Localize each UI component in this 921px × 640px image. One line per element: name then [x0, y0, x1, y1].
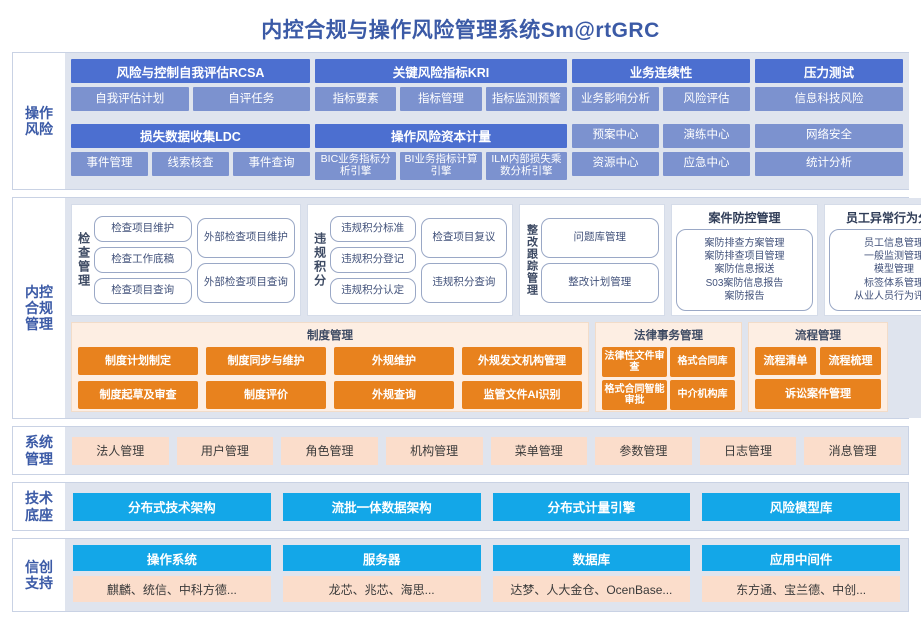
case-prevention-items[interactable]: 案防排查方案管理 案防排查项目管理 案防信息报送 S03案防信息报告 案防报告 [676, 229, 813, 311]
btn-kri-element[interactable]: 指标要素 [315, 87, 396, 111]
box-process-management: 流程管理 流程清单 流程梳理 诉讼案件管理 [748, 322, 888, 412]
btn-plan-center[interactable]: 预案中心 [572, 124, 659, 148]
inspect-col1: 检查项目维护 检查工作底稿 检查项目查询 [94, 210, 192, 310]
btn-inspect-item-query[interactable]: 检查项目查询 [94, 278, 192, 304]
btn-bic-engine[interactable]: BIC业务指标分析引擎 [315, 152, 396, 180]
band-label-tech-foundation: 技术底座 [13, 483, 65, 530]
btn-kri-monitor[interactable]: 指标监测预警 [486, 87, 567, 111]
card-label-violation: 违规积分 [313, 210, 326, 310]
btn-risk-model-library[interactable]: 风险模型库 [702, 493, 900, 521]
xc-head-middleware[interactable]: 应用中间件 [702, 545, 900, 571]
btn-process-list[interactable]: 流程清单 [755, 347, 816, 375]
btn-case-project-manage[interactable]: 案防排查项目管理 [705, 250, 785, 263]
btn-case-plan-manage[interactable]: 案防排查方案管理 [705, 237, 785, 250]
xc-head-server[interactable]: 服务器 [283, 545, 481, 571]
btn-resource-center[interactable]: 资源中心 [572, 152, 659, 176]
btn-message-manage[interactable]: 消息管理 [804, 437, 901, 465]
label-internal-control: 内控合规管理 [25, 284, 53, 332]
btn-regulatory-doc-ai[interactable]: 监管文件AI识别 [462, 381, 582, 409]
btn-policy-sync-maintain[interactable]: 制度同步与维护 [206, 347, 326, 375]
box-title-process-management: 流程管理 [755, 327, 881, 343]
internal-control-body: 检查管理 检查项目维护 检查工作底稿 检查项目查询 外部检查项目维护 外部检查项… [65, 198, 921, 418]
btn-bcm-risk-assess[interactable]: 风险评估 [663, 87, 750, 111]
btn-statistics-analysis[interactable]: 统计分析 [755, 152, 903, 176]
band-xinchuang-support: 信创支持 操作系统 麒麟、统信、中科方德... 服务器 龙芯、兆芯、海思... … [12, 538, 909, 612]
btn-rcsa-plan[interactable]: 自我评估计划 [71, 87, 189, 111]
band-label-operational-risk: 操作风险 [13, 53, 65, 189]
btn-ext-reg-maintain[interactable]: 外规维护 [334, 347, 454, 375]
btn-ext-inspect-query[interactable]: 外部检查项目查询 [197, 263, 295, 303]
band-label-internal-control: 内控合规管理 [13, 198, 65, 418]
box-title-system-management: 制度管理 [78, 327, 582, 343]
btn-inspect-workpaper[interactable]: 检查工作底稿 [94, 247, 192, 273]
operational-risk-row-bottom: 损失数据收集LDC 事件管理 线索核查 事件查询 操作风险资本计量 BIC业务指… [71, 124, 903, 184]
btn-ext-inspect-maintain[interactable]: 外部检查项目维护 [197, 218, 295, 258]
label-tech-foundation: 技术底座 [25, 490, 53, 522]
btn-org-manage[interactable]: 机构管理 [386, 437, 483, 465]
band-internal-control: 内控合规管理 检查管理 检查项目维护 检查工作底稿 检查项目查询 外部检查项目维… [12, 197, 909, 419]
group-stress-bottom: 网络安全 统计分析 [755, 124, 903, 184]
rcsa-subs: 自我评估计划 自评任务 [71, 87, 310, 111]
card-staff-behavior: 员工异常行为分析 员工信息管理 一般监测管理 模型管理 标签体系管理 从业人员行… [824, 204, 921, 316]
btn-drill-center[interactable]: 演练中心 [663, 124, 750, 148]
btn-stream-batch-data-arch[interactable]: 流批一体数据架构 [283, 493, 481, 521]
btn-violation-standard[interactable]: 违规积分标准 [330, 216, 416, 242]
btn-event-manage[interactable]: 事件管理 [71, 152, 148, 176]
btn-ilm-engine[interactable]: ILM内部损失乘数分析引擎 [486, 152, 567, 180]
btn-contract-smart-approval[interactable]: 格式合同智能审批 [602, 380, 667, 410]
xc-head-database[interactable]: 数据库 [493, 545, 691, 571]
internal-control-orange-row: 制度管理 制度计划制定 制度同步与维护 外规维护 外规发文机构管理 制度起草及审… [71, 322, 921, 412]
label-xinchuang: 信创支持 [25, 559, 53, 591]
system-management-body: 法人管理 用户管理 角色管理 机构管理 菜单管理 参数管理 日志管理 消息管理 [65, 427, 908, 474]
stress-subs-2: 网络安全 [755, 124, 903, 148]
btn-inspect-item-review[interactable]: 检查项目复议 [421, 218, 507, 258]
btn-clue-check[interactable]: 线索核查 [152, 152, 229, 176]
stress-subs-3: 统计分析 [755, 152, 903, 176]
btn-distributed-calc-engine[interactable]: 分布式计量引擎 [493, 493, 691, 521]
header-op-risk-capital[interactable]: 操作风险资本计量 [315, 124, 567, 148]
header-bcm[interactable]: 业务连续性 [572, 59, 750, 83]
label-line1: 操作风险 [25, 105, 53, 137]
btn-rectification-plan[interactable]: 整改计划管理 [541, 263, 659, 303]
btn-policy-plan[interactable]: 制度计划制定 [78, 347, 198, 375]
btn-policy-draft-review[interactable]: 制度起草及审查 [78, 381, 198, 409]
header-ldc[interactable]: 损失数据收集LDC [71, 124, 310, 148]
xinchuang-body: 操作系统 麒麟、统信、中科方德... 服务器 龙芯、兆芯、海思... 数据库 达… [65, 539, 908, 611]
system-architecture-diagram: 内控合规与操作风险管理系统Sm@rtGRC 操作风险 风险与控制自我评估RCSA… [0, 0, 921, 640]
xinchuang-col-server: 服务器 龙芯、兆芯、海思... [283, 545, 481, 605]
band-operational-risk: 操作风险 风险与控制自我评估RCSA 自我评估计划 自评任务 关键风险指标KRI… [12, 52, 909, 190]
btn-it-risk[interactable]: 信息科技风险 [755, 87, 903, 111]
stress-subs-1: 信息科技风险 [755, 87, 903, 111]
xc-body-middleware: 东方通、宝兰德、中创... [702, 576, 900, 602]
band-system-management: 系统管理 法人管理 用户管理 角色管理 机构管理 菜单管理 参数管理 日志管理 … [12, 426, 909, 475]
xinchuang-col-database: 数据库 达梦、人大金仓、OcenBase... [493, 545, 691, 605]
card-label-rectification: 整改跟踪管理 [525, 210, 537, 310]
btn-user-manage[interactable]: 用户管理 [177, 437, 274, 465]
btn-general-monitor[interactable]: 一般监测管理 [864, 250, 921, 263]
violation-col2: 检查项目复议 违规积分查询 [421, 210, 507, 310]
btn-role-manage[interactable]: 角色管理 [281, 437, 378, 465]
header-kri[interactable]: 关键风险指标KRI [315, 59, 567, 83]
btn-agency-library[interactable]: 中介机构库 [670, 380, 735, 410]
card-label-inspect: 检查管理 [77, 210, 90, 310]
btn-bcm-bia[interactable]: 业务影响分析 [572, 87, 659, 111]
bcm-subs-1: 业务影响分析 风险评估 [572, 87, 750, 111]
btn-menu-manage[interactable]: 菜单管理 [491, 437, 588, 465]
label-system-management: 系统管理 [25, 434, 53, 466]
violation-col1: 违规积分标准 违规积分登记 违规积分认定 [330, 210, 416, 310]
btn-violation-confirm[interactable]: 违规积分认定 [330, 278, 416, 304]
bcm-subs-2: 预案中心 演练中心 [572, 124, 750, 148]
btn-legal-entity-manage[interactable]: 法人管理 [72, 437, 169, 465]
ldc-subs: 事件管理 线索核查 事件查询 [71, 152, 310, 176]
btn-network-security[interactable]: 网络安全 [755, 124, 903, 148]
btn-bi-engine[interactable]: BI业务指标计算引擎 [400, 152, 481, 180]
kri-subs: 指标要素 指标管理 指标监测预警 [315, 87, 567, 111]
box-title-legal-affairs: 法律事务管理 [602, 327, 735, 343]
inspect-col2: 外部检查项目维护 外部检查项目查询 [197, 210, 295, 310]
btn-process-combing[interactable]: 流程梳理 [820, 347, 881, 375]
bcm-subs-3: 资源中心 应急中心 [572, 152, 750, 176]
btn-s03-case-report[interactable]: S03案防信息报告 [706, 277, 784, 290]
card-title-staff-behavior: 员工异常行为分析 [829, 209, 921, 226]
capital-subs: BIC业务指标分析引擎 BI业务指标计算引擎 ILM内部损失乘数分析引擎 [315, 152, 567, 180]
group-ldc: 损失数据收集LDC 事件管理 线索核查 事件查询 [71, 124, 310, 184]
btn-tag-system-manage[interactable]: 标签体系管理 [864, 277, 921, 290]
header-rcsa[interactable]: 风险与控制自我评估RCSA [71, 59, 310, 83]
group-stress-top: 压力测试 信息科技风险 [755, 59, 903, 119]
btn-case-report[interactable]: 案防报告 [725, 290, 765, 303]
btn-issue-library[interactable]: 问题库管理 [541, 218, 659, 258]
tech-foundation-body: 分布式技术架构 流批一体数据架构 分布式计量引擎 风险模型库 [65, 483, 908, 530]
box-system-management: 制度管理 制度计划制定 制度同步与维护 外规维护 外规发文机构管理 制度起草及审… [71, 322, 589, 412]
btn-case-info-report[interactable]: 案防信息报送 [715, 263, 775, 276]
process-row-1: 流程清单 流程梳理 [755, 347, 881, 375]
card-inspect-management: 检查管理 检查项目维护 检查工作底稿 检查项目查询 外部检查项目维护 外部检查项… [71, 204, 301, 316]
system-management-grid: 制度计划制定 制度同步与维护 外规维护 外规发文机构管理 制度起草及审查 制度评… [78, 347, 582, 409]
btn-policy-evaluation[interactable]: 制度评价 [206, 381, 326, 409]
staff-behavior-items[interactable]: 员工信息管理 一般监测管理 模型管理 标签体系管理 从业人员行为评估 [829, 229, 921, 311]
btn-standard-contract-lib[interactable]: 格式合同库 [670, 347, 735, 377]
btn-staff-behavior-eval[interactable]: 从业人员行为评估 [854, 290, 921, 303]
btn-kri-manage[interactable]: 指标管理 [400, 87, 481, 111]
operational-risk-body: 风险与控制自我评估RCSA 自我评估计划 自评任务 关键风险指标KRI 指标要素… [65, 53, 909, 189]
group-kri-top: 关键风险指标KRI 指标要素 指标管理 指标监测预警 [315, 59, 567, 119]
band-label-xinchuang: 信创支持 [13, 539, 65, 611]
btn-model-manage[interactable]: 模型管理 [874, 263, 914, 276]
page-title: 内控合规与操作风险管理系统Sm@rtGRC [261, 14, 660, 44]
btn-violation-register[interactable]: 违规积分登记 [330, 247, 416, 273]
group-capital: 操作风险资本计量 BIC业务指标分析引擎 BI业务指标计算引擎 ILM内部损失乘… [315, 124, 567, 184]
band-tech-foundation: 技术底座 分布式技术架构 流批一体数据架构 分布式计量引擎 风险模型库 [12, 482, 909, 531]
card-rectification-tracking: 整改跟踪管理 问题库管理 整改计划管理 [519, 204, 665, 316]
header-stress-test[interactable]: 压力测试 [755, 59, 903, 83]
btn-ext-reg-issuer-manage[interactable]: 外规发文机构管理 [462, 347, 582, 375]
btn-log-manage[interactable]: 日志管理 [700, 437, 797, 465]
btn-ext-reg-query[interactable]: 外规查询 [334, 381, 454, 409]
group-bcm-bottom: 预案中心 演练中心 资源中心 应急中心 [572, 124, 750, 184]
xinchuang-col-os: 操作系统 麒麟、统信、中科方德... [73, 545, 271, 605]
btn-event-query[interactable]: 事件查询 [233, 152, 310, 176]
xinchuang-col-middleware: 应用中间件 东方通、宝兰德、中创... [702, 545, 900, 605]
group-bcm-top: 业务连续性 业务影响分析 风险评估 [572, 59, 750, 119]
btn-param-manage[interactable]: 参数管理 [595, 437, 692, 465]
operational-risk-row-top: 风险与控制自我评估RCSA 自我评估计划 自评任务 关键风险指标KRI 指标要素… [71, 59, 903, 119]
xc-body-server: 龙芯、兆芯、海思... [283, 576, 481, 602]
group-rcsa-top: 风险与控制自我评估RCSA 自我评估计划 自评任务 [71, 59, 310, 119]
xc-head-os[interactable]: 操作系统 [73, 545, 271, 571]
legal-affairs-grid: 法律性文件审查 格式合同库 格式合同智能审批 中介机构库 [602, 347, 735, 410]
process-management-grid: 流程清单 流程梳理 诉讼案件管理 [755, 347, 881, 409]
box-legal-affairs: 法律事务管理 法律性文件审查 格式合同库 格式合同智能审批 中介机构库 [595, 322, 742, 412]
btn-distributed-tech-arch[interactable]: 分布式技术架构 [73, 493, 271, 521]
xc-body-os: 麒麟、统信、中科方德... [73, 576, 271, 602]
btn-legal-doc-review[interactable]: 法律性文件审查 [602, 347, 667, 377]
rectification-col1: 问题库管理 整改计划管理 [541, 210, 659, 310]
btn-emergency-center[interactable]: 应急中心 [663, 152, 750, 176]
title-bar: 内控合规与操作风险管理系统Sm@rtGRC [12, 6, 909, 52]
btn-litigation-case-manage[interactable]: 诉讼案件管理 [755, 379, 881, 409]
xc-body-database: 达梦、人大金仓、OcenBase... [493, 576, 691, 602]
btn-rcsa-task[interactable]: 自评任务 [193, 87, 311, 111]
btn-inspect-item-maintain[interactable]: 检查项目维护 [94, 216, 192, 242]
btn-violation-query[interactable]: 违规积分查询 [421, 263, 507, 303]
band-label-system-management: 系统管理 [13, 427, 65, 474]
card-case-prevention: 案件防控管理 案防排查方案管理 案防排查项目管理 案防信息报送 S03案防信息报… [671, 204, 818, 316]
card-title-case-prevention: 案件防控管理 [676, 209, 813, 226]
internal-control-cards: 检查管理 检查项目维护 检查工作底稿 检查项目查询 外部检查项目维护 外部检查项… [71, 204, 921, 316]
card-violation-points: 违规积分 违规积分标准 违规积分登记 违规积分认定 检查项目复议 违规积分查询 [307, 204, 513, 316]
btn-staff-info-manage[interactable]: 员工信息管理 [864, 237, 921, 250]
